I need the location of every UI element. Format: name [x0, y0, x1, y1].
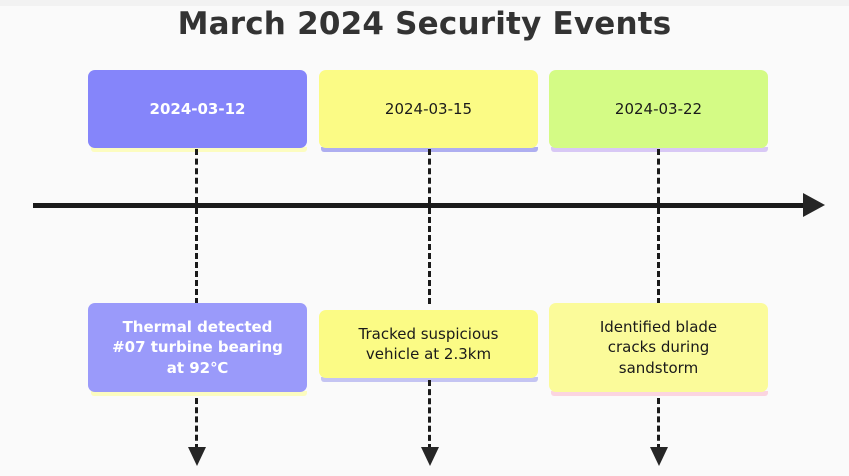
timeline-arrowhead-icon	[803, 193, 825, 217]
connector-below-event-3	[657, 398, 660, 450]
timeline-axis-line	[33, 203, 806, 208]
date-label-3: 2024-03-22	[615, 99, 702, 119]
down-arrowhead-icon-3	[650, 447, 668, 466]
date-box-1[interactable]: 2024-03-12	[88, 70, 307, 148]
connector-date-to-axis-3	[657, 149, 660, 203]
connector-date-to-axis-1	[195, 149, 198, 203]
event-label-3: Identified blade cracks during sandstorm	[600, 317, 717, 378]
date-label-2: 2024-03-15	[385, 99, 472, 119]
connector-below-event-1	[195, 398, 198, 450]
event-box-2[interactable]: Tracked suspicious vehicle at 2.3km	[319, 310, 538, 378]
connector-axis-to-event-3	[657, 208, 660, 304]
event-box-1[interactable]: Thermal detected #07 turbine bearing at …	[88, 303, 307, 392]
event-label-1: Thermal detected #07 turbine bearing at …	[112, 317, 283, 378]
connector-date-to-axis-2	[428, 149, 431, 203]
connector-axis-to-event-2	[428, 208, 431, 304]
timeline-diagram: March 2024 Security Events 2024-03-12 20…	[0, 0, 849, 476]
down-arrowhead-icon-2	[421, 447, 439, 466]
connector-axis-to-event-1	[195, 208, 198, 304]
event-box-3[interactable]: Identified blade cracks during sandstorm	[549, 303, 768, 392]
date-label-1: 2024-03-12	[150, 99, 246, 119]
date-box-2[interactable]: 2024-03-15	[319, 70, 538, 148]
down-arrowhead-icon-1	[188, 447, 206, 466]
event-label-2: Tracked suspicious vehicle at 2.3km	[359, 324, 499, 365]
date-box-3[interactable]: 2024-03-22	[549, 70, 768, 148]
page-title: March 2024 Security Events	[0, 6, 849, 42]
connector-below-event-2	[428, 380, 431, 450]
